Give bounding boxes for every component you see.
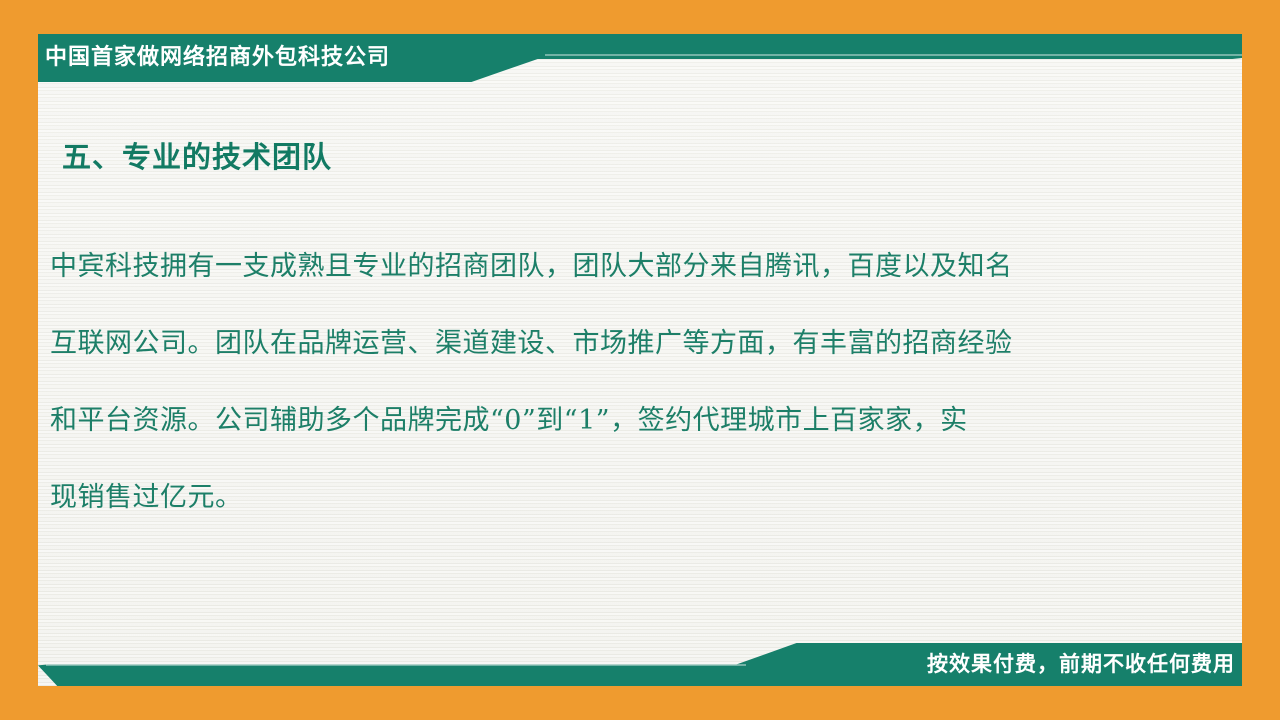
body-paragraph-line: 和平台资源。公司辅助多个品牌完成“0”到“1”，签约代理城市上百家家，实 <box>50 382 1190 459</box>
footer-tagline: 按效果付费，前期不收任何费用 <box>927 643 1235 686</box>
body-paragraph-line: 中宾科技拥有一支成熟且专业的招商团队，团队大部分来自腾讯，百度以及知名 <box>50 228 1190 305</box>
body-paragraph: 中宾科技拥有一支成熟且专业的招商团队，团队大部分来自腾讯，百度以及知名 互联网公… <box>50 228 1190 536</box>
header-title: 中国首家做网络招商外包科技公司 <box>45 36 390 80</box>
body-paragraph-line: 现销售过亿元。 <box>50 459 1190 536</box>
slide-canvas: 中国首家做网络招商外包科技公司 五、专业的技术团队 中宾科技拥有一支成熟且专业的… <box>0 0 1280 720</box>
section-heading: 五、专业的技术团队 <box>62 134 332 176</box>
body-paragraph-line: 互联网公司。团队在品牌运营、渠道建设、市场推广等方面，有丰富的招商经验 <box>50 305 1190 382</box>
header-hairline-divider <box>545 54 1242 56</box>
footer-hairline-divider <box>46 664 746 666</box>
